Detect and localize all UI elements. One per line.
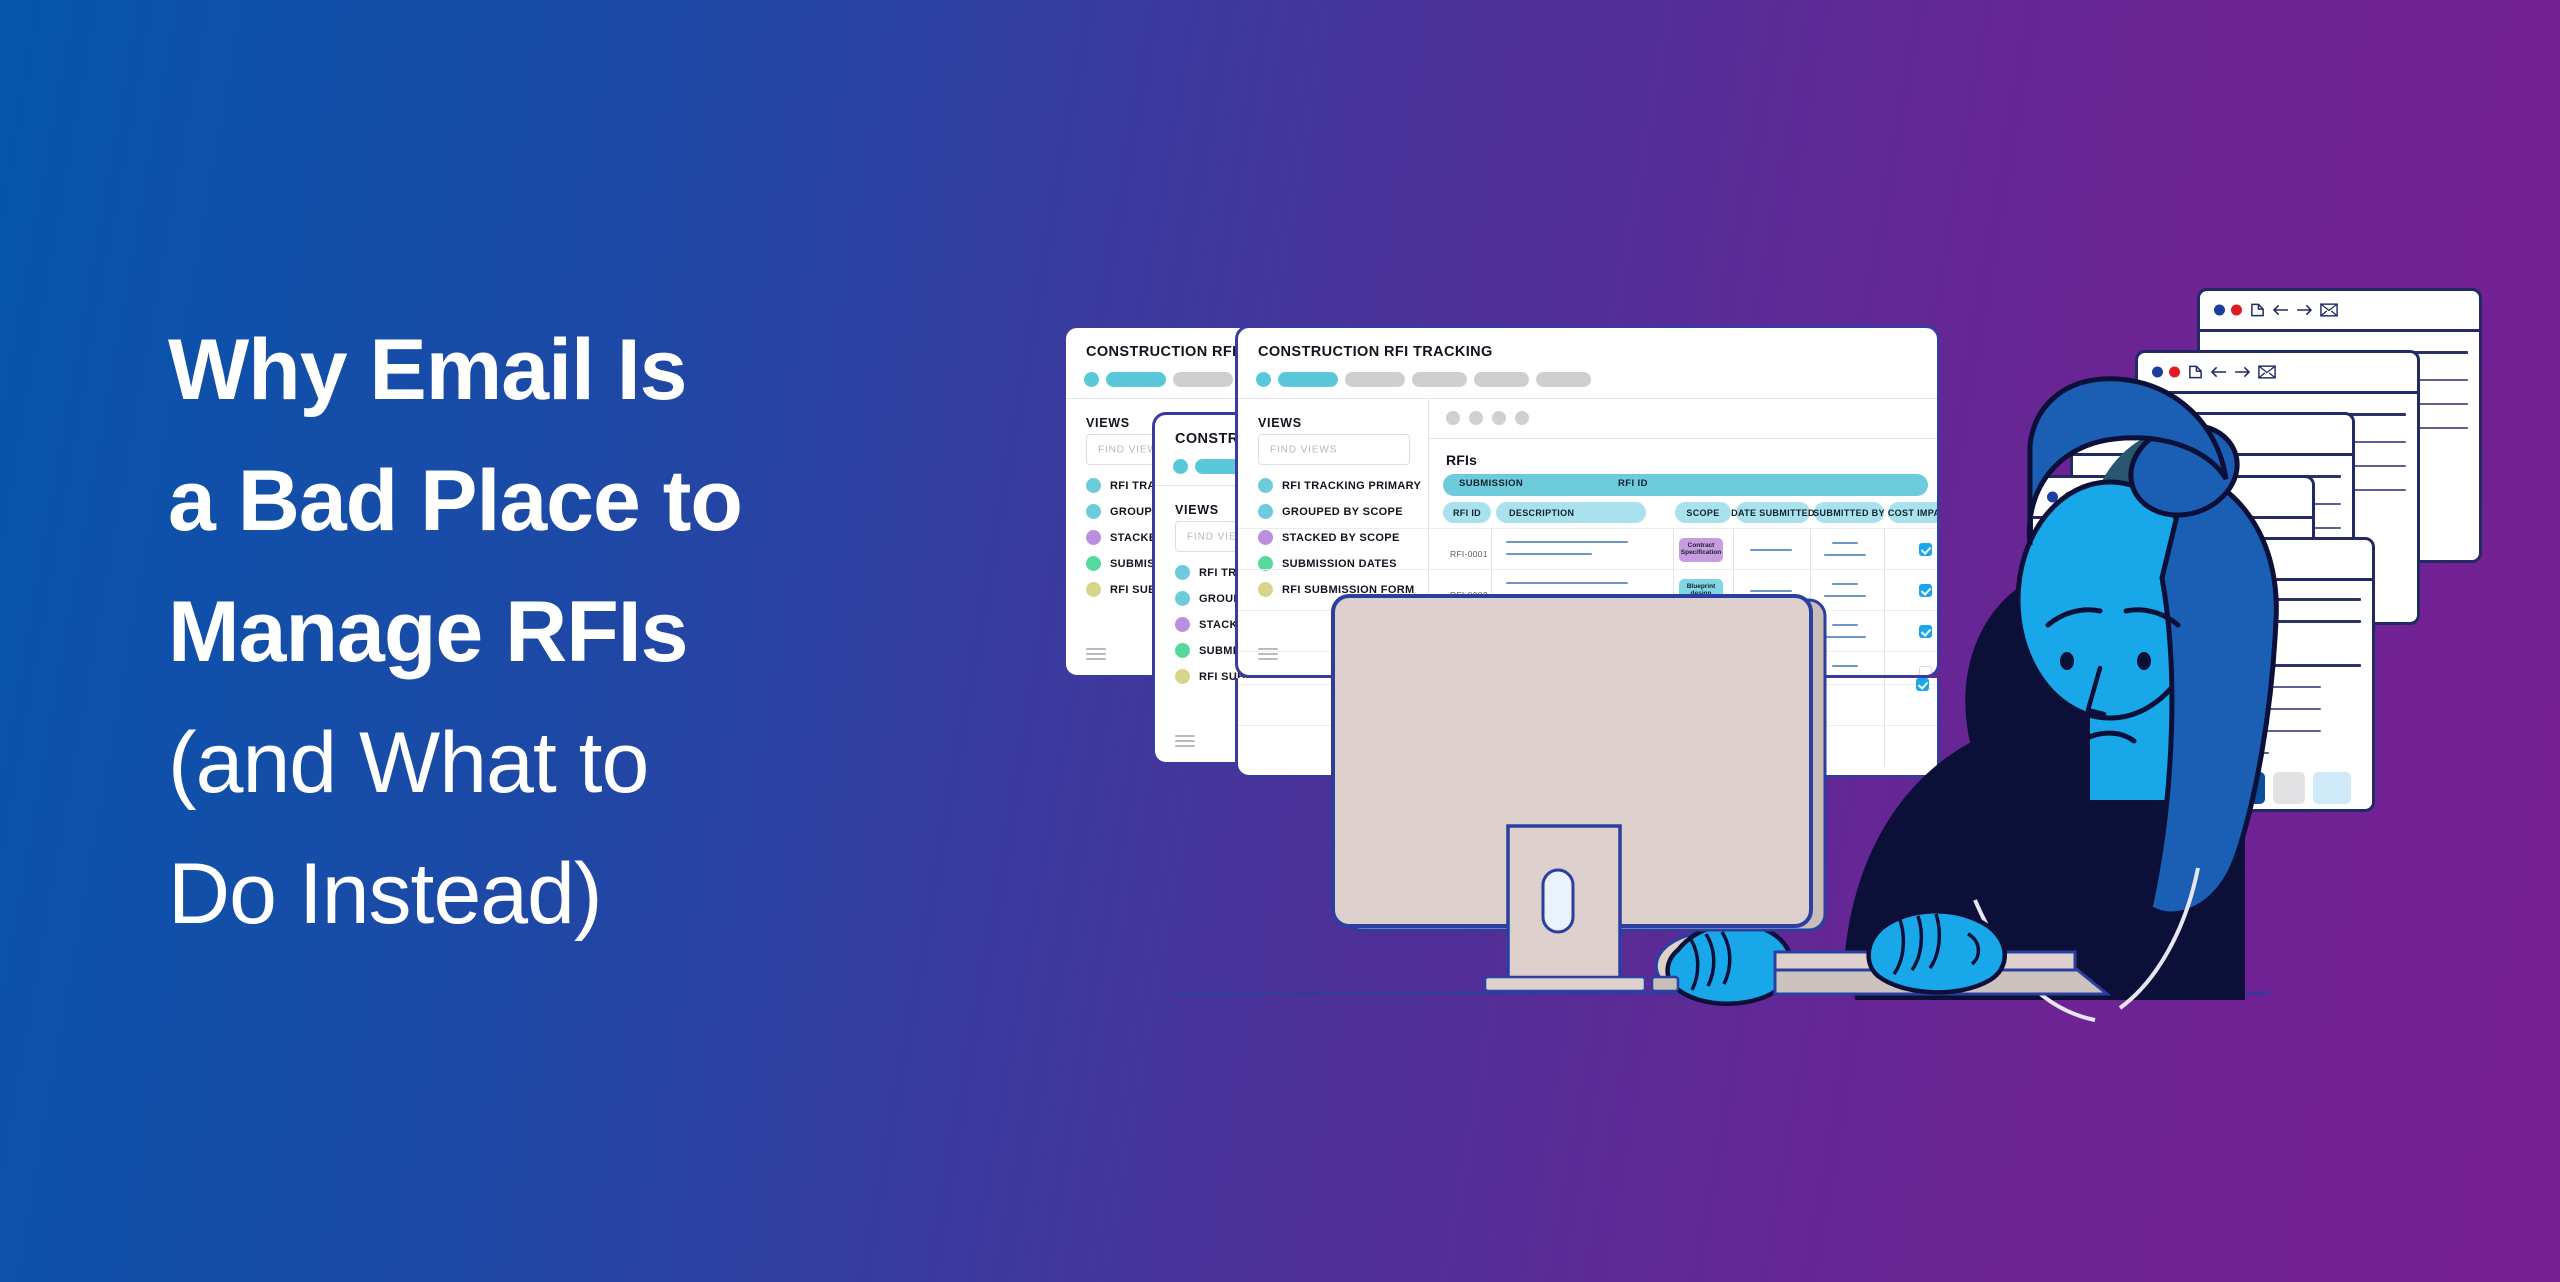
forward-arrow-icon[interactable] [2296, 304, 2313, 317]
rfi-window-main-lower [1235, 678, 1940, 778]
envelope-icon[interactable] [2193, 427, 2211, 441]
views-label: VIEWS [1258, 416, 1302, 430]
email-body-line [2109, 686, 2321, 688]
view-color-dot [1175, 591, 1190, 606]
views-label: VIEWS [1175, 503, 1219, 517]
table-section-title: RFIs [1446, 452, 1477, 468]
group-header-rfi-id: RFI ID [1618, 478, 1648, 489]
back-arrow-icon[interactable] [2165, 553, 2182, 566]
email-body-line [2109, 730, 2321, 732]
view-color-dot [1086, 478, 1101, 493]
thumb-line [1968, 934, 1978, 964]
view-color-dot [1086, 530, 1101, 545]
email-body-line [2109, 752, 2269, 754]
cell-submitter-line [1832, 583, 1858, 585]
table-row[interactable]: RFI-0002 Blueprint design [1238, 569, 1937, 611]
tab-pill-row[interactable] [1256, 372, 1591, 387]
email-body-line [2109, 708, 2321, 710]
person-hand-right [1869, 911, 2005, 992]
person-hand-left [1668, 924, 1792, 1004]
scope-chip: Site Condition [1679, 620, 1723, 644]
cell-description-line [1506, 582, 1628, 584]
person-collar-right [2120, 868, 2198, 1008]
back-arrow-icon[interactable] [2210, 366, 2227, 379]
tab-pill-4[interactable] [1474, 372, 1529, 387]
view-color-dot [1258, 504, 1273, 519]
cost-impacted-checkbox[interactable] [1919, 584, 1932, 597]
tab-pill-5[interactable] [1536, 372, 1591, 387]
blue-dot-icon [2107, 554, 2118, 565]
headline-line-5: Do Instead) [168, 829, 1068, 960]
table-row[interactable]: RFI-0001 Contract Specification [1238, 528, 1937, 570]
table-row[interactable]: RFI-0003 Site Condition [1238, 610, 1937, 652]
cell-description-line [1506, 664, 1628, 666]
tab-pill-2[interactable] [1173, 372, 1233, 387]
blue-dot-icon [2152, 367, 2163, 378]
cell-description-line [1506, 594, 1592, 596]
menu-icon[interactable] [1086, 648, 1106, 663]
forward-arrow-icon[interactable] [2234, 366, 2251, 379]
page-title: Why Email Is a Bad Place to Manage RFIs … [168, 305, 1068, 960]
view-color-dot [1175, 643, 1190, 658]
view-color-dot [1086, 582, 1101, 597]
cell-description-line [1506, 553, 1592, 555]
finger-line [1894, 920, 1903, 974]
cost-impacted-checkbox[interactable] [1919, 666, 1932, 678]
sidebar-item-grouped-by-scope[interactable]: GROUPED BY SCOPE [1258, 504, 1403, 519]
monitor-power-indicator [1543, 870, 1573, 932]
blue-dot-icon [2214, 305, 2225, 316]
rfi-window-main[interactable]: CONSTRUCTION RFI TRACKING VIEWS FIND VIE… [1235, 325, 1940, 678]
finger-line [1722, 932, 1730, 984]
column-header-rfi-id[interactable]: RFI ID [1443, 502, 1491, 523]
cost-impacted-checkbox[interactable] [1919, 625, 1932, 638]
cell-description-line [1506, 541, 1628, 543]
headline-line-4: (and What to [168, 698, 1068, 829]
tab-indicator-dot [1256, 372, 1271, 387]
headline-line-3: Manage RFIs [168, 567, 1068, 698]
column-header-scope[interactable]: SCOPE [1675, 502, 1731, 523]
scope-chip: Blueprint design [1679, 579, 1723, 603]
compose-icon[interactable] [2250, 303, 2265, 318]
format-swatch-grey[interactable] [2273, 772, 2305, 804]
tab-pill-2[interactable] [1345, 372, 1405, 387]
envelope-icon[interactable] [2213, 552, 2231, 566]
envelope-icon[interactable] [2258, 365, 2276, 379]
cell-submitter-line [1824, 636, 1866, 638]
view-color-dot [1175, 617, 1190, 632]
keyboard-top [1775, 952, 2075, 970]
view-color-dot [1086, 504, 1101, 519]
column-header-description[interactable]: DESCRIPTION [1496, 502, 1646, 523]
monitor-stand-base-right [1652, 977, 1678, 991]
scope-chip: Site Condition [1679, 661, 1723, 678]
envelope-icon[interactable] [2153, 490, 2171, 504]
window-title: CONSTRUCTION RFI TRACKING [1258, 344, 1493, 360]
red-dot-icon [2104, 429, 2115, 440]
finger-line [1706, 934, 1714, 986]
forward-arrow-icon[interactable] [2129, 491, 2146, 504]
view-color-dot [1086, 556, 1101, 571]
table-group-header: SUBMISSION RFI ID [1443, 474, 1928, 496]
cell-date-line [1750, 672, 1792, 674]
format-swatch-dark[interactable] [2233, 772, 2265, 804]
scope-chip: Contract Specification [1679, 538, 1723, 562]
red-dot-icon [2169, 367, 2180, 378]
view-color-dot [1175, 669, 1190, 684]
tab-indicator-dot [1084, 372, 1099, 387]
email-toolbar[interactable] [2138, 353, 2417, 394]
tab-pill-1[interactable] [1106, 372, 1166, 387]
find-views-placeholder: FIND VIEWS [1270, 444, 1337, 455]
tab-pill-3[interactable] [1412, 372, 1467, 387]
toolbar-dot-2[interactable] [1469, 411, 1483, 425]
toolbar-dot-4[interactable] [1515, 411, 1529, 425]
email-toolbar[interactable] [2093, 540, 2372, 581]
email-body-line [2109, 620, 2361, 623]
email-body-line [2109, 664, 2361, 667]
view-item-label: GROUPED BY SCOPE [1282, 506, 1403, 518]
view-color-dot [1258, 478, 1273, 493]
envelope-icon[interactable] [2320, 303, 2338, 317]
email-toolbar[interactable] [2200, 291, 2479, 332]
compose-icon[interactable] [2188, 365, 2203, 380]
red-dot-icon [2064, 492, 2075, 503]
column-header-submitted-by[interactable]: SUBMITTED BY [1814, 502, 1884, 523]
mouse [1656, 932, 1768, 1000]
cell-description-line [1506, 623, 1628, 625]
find-views-input[interactable]: FIND VIEWS [1258, 434, 1410, 465]
tab-indicator-dot [1173, 459, 1188, 474]
cell-submitter-line [1832, 665, 1858, 667]
cost-impacted-checkbox[interactable] [1916, 678, 1929, 691]
finger-line [1930, 914, 1939, 968]
compose-icon[interactable] [2123, 427, 2138, 442]
cell-submitter-line [1832, 542, 1858, 544]
back-arrow-icon[interactable] [2105, 491, 2122, 504]
back-arrow-icon[interactable] [2145, 428, 2162, 441]
cell-date-line [1750, 549, 1792, 551]
email-body-line [2109, 598, 2361, 601]
toolbar-dot-1[interactable] [1446, 411, 1460, 425]
table-row[interactable]: RFI-0004 Site Condition [1238, 651, 1937, 678]
email-window-1-front[interactable]: SEND [2090, 537, 2375, 812]
views-label: VIEWS [1086, 416, 1130, 430]
cost-impacted-checkbox[interactable] [1919, 543, 1932, 556]
email-toolbar[interactable] [2073, 415, 2352, 456]
blue-dot-icon [2047, 492, 2058, 503]
monitor-stand-base [1485, 977, 1645, 991]
cell-submitter-line [1824, 554, 1866, 556]
cell-rfi-id: RFI-0002 [1450, 590, 1488, 600]
cell-rfi-id: RFI-0003 [1450, 631, 1488, 641]
view-item-label: RFI TRACKING PRIMARY [1282, 480, 1421, 492]
person-collar-left [1975, 900, 2095, 1020]
finger-line [1690, 938, 1698, 990]
compose-icon[interactable] [2143, 552, 2158, 567]
menu-icon[interactable] [1175, 735, 1195, 750]
view-color-dot [1175, 565, 1190, 580]
hero-banner: Why Email Is a Bad Place to Manage RFIs … [0, 0, 2560, 1282]
toolbar-dot-3[interactable] [1492, 411, 1506, 425]
back-arrow-icon[interactable] [2272, 304, 2289, 317]
toolbar-dots[interactable] [1446, 411, 1529, 425]
blue-dot-icon [2087, 429, 2098, 440]
cell-submitter-line [1824, 595, 1866, 597]
sidebar-item-rfi-tracking-primary[interactable]: RFI TRACKING PRIMARY [1258, 478, 1421, 493]
headline-line-2: a Bad Place to [168, 436, 1068, 567]
email-toolbar[interactable] [2033, 478, 2312, 519]
headline-line-1: Why Email Is [168, 305, 1068, 436]
cell-date-line [1750, 590, 1792, 592]
finger-line [1912, 916, 1921, 970]
red-dot-icon [2124, 554, 2135, 565]
forward-arrow-icon[interactable] [2169, 428, 2186, 441]
red-dot-icon [2231, 305, 2242, 316]
keyboard [1775, 968, 2107, 994]
email-body-line [2109, 642, 2237, 644]
group-header-submission: SUBMISSION [1459, 478, 1523, 489]
attachment-preview[interactable] [2109, 772, 2219, 812]
cell-description-line [1506, 635, 1592, 637]
column-header-cost-impacted[interactable]: COST IMPACTED [1888, 502, 1940, 523]
tab-pill-1[interactable] [1278, 372, 1338, 387]
cell-submitter-line [1832, 624, 1858, 626]
forward-arrow-icon[interactable] [2189, 553, 2206, 566]
compose-icon[interactable] [2083, 490, 2098, 505]
cell-date-line [1750, 631, 1792, 633]
monitor-stand-neck [1508, 826, 1620, 980]
cell-rfi-id: RFI-0001 [1450, 549, 1488, 559]
format-swatch-light[interactable] [2313, 772, 2351, 804]
column-header-date-submitted[interactable]: DATE SUBMITTED [1736, 502, 1810, 523]
